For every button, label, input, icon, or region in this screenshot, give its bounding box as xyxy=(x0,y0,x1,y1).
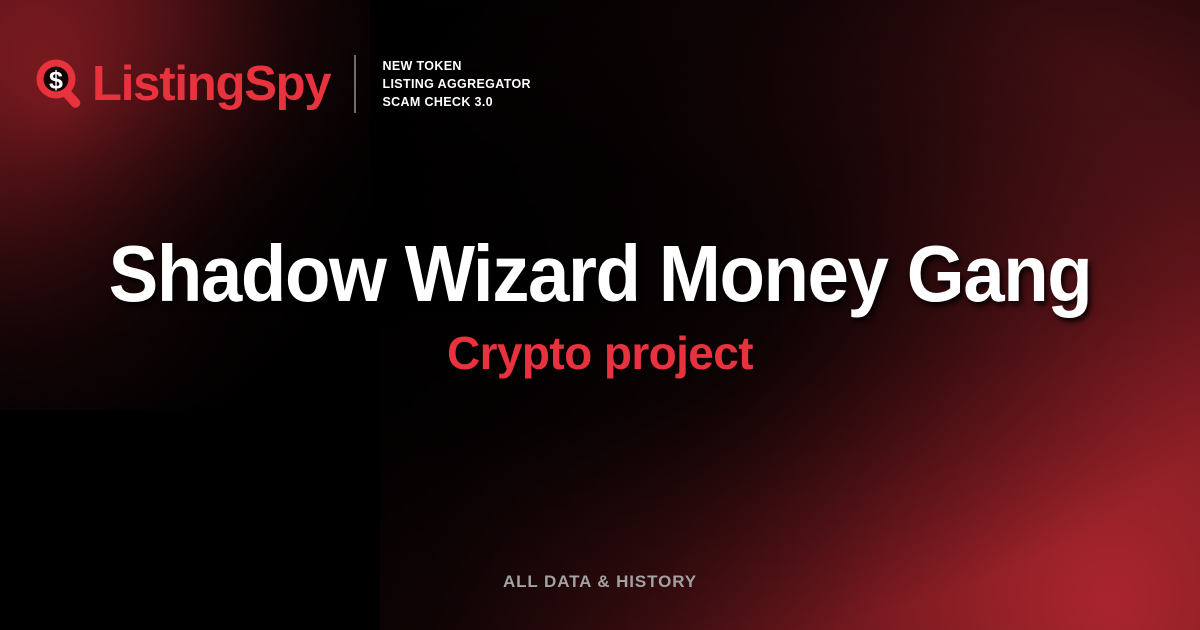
header: $ ListingSpy NEW TOKEN LISTING AGGREGATO… xyxy=(34,55,531,113)
header-divider xyxy=(354,55,356,113)
project-subtitle: Crypto project xyxy=(0,329,1200,377)
magnifier-dollar-icon: $ xyxy=(34,57,88,111)
project-title: Shadow Wizard Money Gang xyxy=(42,232,1158,315)
tagline-line-2: LISTING AGGREGATOR xyxy=(382,75,530,93)
tagline-line-3: SCAM CHECK 3.0 xyxy=(382,93,530,111)
tagline-line-1: NEW TOKEN xyxy=(382,57,530,75)
brand-tagline: NEW TOKEN LISTING AGGREGATOR SCAM CHECK … xyxy=(382,57,530,112)
brand-logo[interactable]: $ ListingSpy xyxy=(34,57,330,111)
svg-text:$: $ xyxy=(49,67,63,95)
brand-name: ListingSpy xyxy=(92,60,330,109)
footer-text: ALL DATA & HISTORY xyxy=(503,572,697,591)
footer: ALL DATA & HISTORY xyxy=(0,572,1200,592)
social-card: $ ListingSpy NEW TOKEN LISTING AGGREGATO… xyxy=(0,0,1200,630)
hero-block: Shadow Wizard Money Gang Crypto project xyxy=(0,232,1200,377)
